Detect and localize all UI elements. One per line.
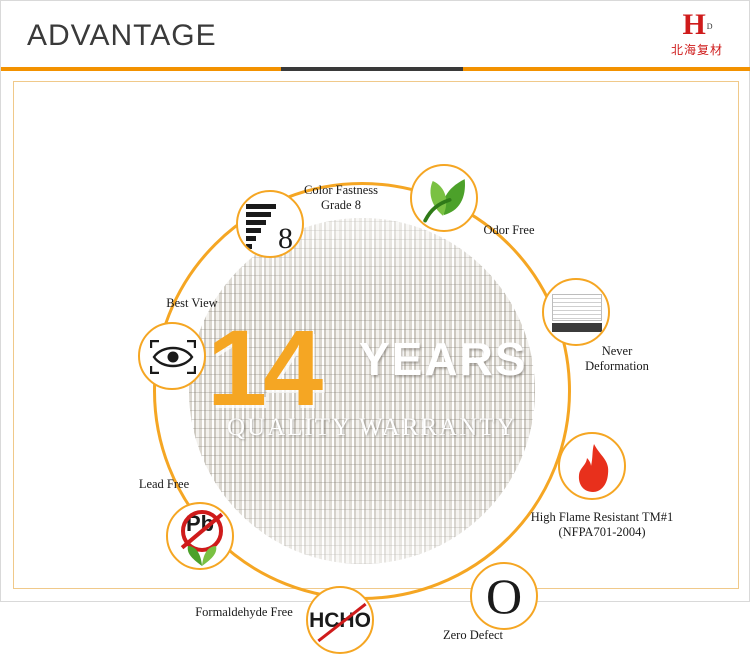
feature-label-color-fastness: Color Fastness Grade 8 [286,183,396,213]
label-line-1: Formaldehyde Free [178,605,310,620]
feature-icon-zero-defect: O [470,562,538,630]
feature-icon-flame-resistant [558,432,626,500]
label-line-1: Zero Defect [414,628,532,643]
company-logo: HD 北海复材 [661,9,733,65]
zero-icon: O [472,564,536,628]
label-line-2: (NFPA701-2004) [512,525,692,540]
label-line-1: Never [558,344,676,359]
logo-chinese-text: 北海复材 [661,41,733,58]
feature-label-flame-resistant: High Flame Resistant TM#1 (NFPA701-2004) [512,510,692,540]
hcho-crossed-icon: HCHO [308,588,372,652]
roller-shutter-icon [552,294,602,334]
warranty-years-number: 14 [207,314,319,422]
feature-label-zero-defect: Zero Defect [414,628,532,643]
center-warranty-text: 14 YEARS QUALITY WARRANTY [189,218,535,564]
feature-label-never-deformation: Never Deformation [558,344,676,374]
warranty-years-word: YEARS [359,336,527,382]
warranty-subtitle: QUALITY WARRANTY [227,414,517,442]
advantage-page: ADVANTAGE HD 北海复材 14 YEARS QUALITY WARRA… [0,0,750,602]
label-line-2: Deformation [558,359,676,374]
header-rule-dark [281,67,463,71]
page-header: ADVANTAGE HD 北海复材 [1,1,750,73]
label-line-1: High Flame Resistant TM#1 [512,510,692,525]
feature-icon-formaldehyde-free: HCHO [306,586,374,654]
label-line-2: Grade 8 [286,198,396,213]
feature-icon-never-deformation [542,278,610,346]
flame-icon [560,434,626,500]
logo-mark-sub: D [707,22,712,31]
page-title: ADVANTAGE [27,19,217,53]
content-frame: 14 YEARS QUALITY WARRANTY 8 Color Fastne… [13,81,739,589]
feature-label-formaldehyde-free: Formaldehyde Free [178,605,310,620]
label-line-1: Color Fastness [286,183,396,198]
logo-mark: HD [661,9,733,41]
